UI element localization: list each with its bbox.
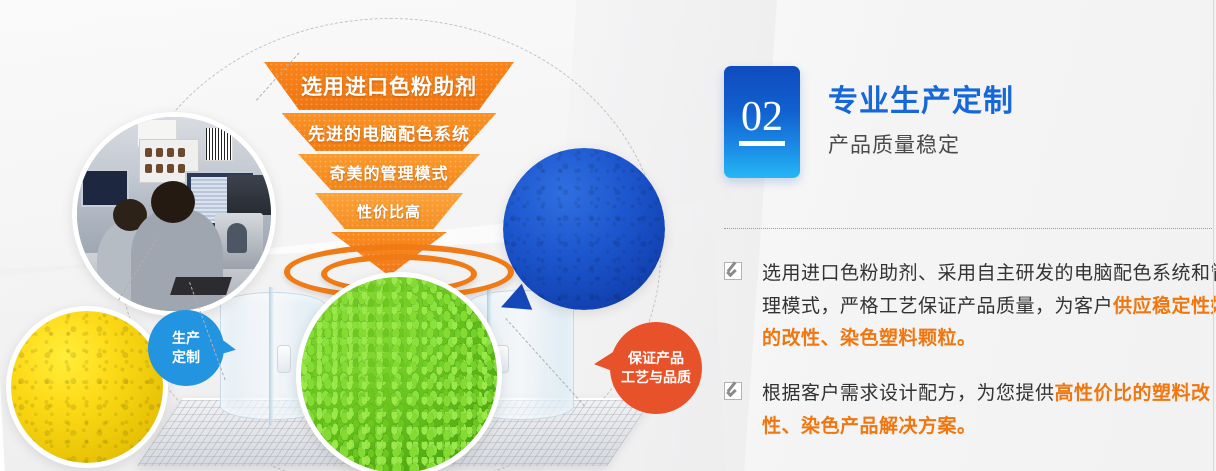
photo-worker-right bbox=[131, 209, 223, 316]
green-plastic-pellets bbox=[296, 272, 502, 471]
section-number-badge: 02 bbox=[724, 66, 800, 178]
header-divider bbox=[724, 228, 1214, 229]
funnel-stage-2: 先进的电脑配色系统 bbox=[282, 113, 497, 151]
section-header: 02 专业生产定制 产品质量稳定 bbox=[724, 66, 1014, 178]
powder-grain-texture bbox=[11, 311, 163, 463]
pellets-fill bbox=[301, 277, 497, 471]
funnel-stage-2-label: 先进的电脑配色系统 bbox=[308, 120, 470, 145]
funnel-stage-4: 性价比高 bbox=[315, 193, 463, 229]
photo-keyboard bbox=[170, 277, 232, 295]
promo-banner: 选用进口色粉助剂 先进的电脑配色系统 奇美的管理模式 性价比高 生产 定制 保证… bbox=[0, 0, 1216, 471]
feature-bullet-1: 选用进口色粉助剂、采用自主研发的电脑配色系统和管理模式，严格工艺保证产品质量，为… bbox=[724, 258, 1216, 356]
right-edge-border bbox=[1213, 0, 1214, 471]
badge-quality-guarantee: 保证产品 工艺与品质 bbox=[610, 322, 702, 414]
badge-quality-line1: 保证产品 bbox=[628, 349, 684, 368]
content-panel: 02 专业生产定制 产品质量稳定 选用进口色粉助剂、采用自主研发的电脑配色系统和… bbox=[724, 0, 1216, 471]
photo-barcode bbox=[205, 127, 233, 161]
lab-technicians-photo bbox=[72, 112, 276, 316]
feature-bullet-2-plain: 根据客户需求设计配方，为您提供 bbox=[762, 383, 1055, 404]
badge-production-line1: 生产 bbox=[172, 329, 200, 348]
funnel-stage-3-label: 奇美的管理模式 bbox=[329, 160, 448, 184]
powder-grain-texture bbox=[503, 148, 665, 310]
funnel-stage-1: 选用进口色粉助剂 bbox=[264, 62, 514, 110]
badge-quality-line2: 工艺与品质 bbox=[621, 368, 691, 387]
section-title: 专业生产定制 bbox=[828, 85, 1014, 120]
section-header-text: 专业生产定制 产品质量稳定 bbox=[828, 85, 1014, 160]
section-subtitle: 产品质量稳定 bbox=[828, 129, 1014, 159]
feature-bullet-2-text: 根据客户需求设计配方，为您提供高性价比的塑料改性、染色产品解决方案。 bbox=[762, 378, 1216, 443]
feature-bullet-1-text: 选用进口色粉助剂、采用自主研发的电脑配色系统和管理模式，严格工艺保证产品质量，为… bbox=[762, 258, 1216, 356]
yellow-pigment-powder bbox=[6, 306, 168, 468]
cylinder-knob bbox=[277, 345, 291, 373]
process-funnel: 选用进口色粉助剂 先进的电脑配色系统 奇美的管理模式 性价比高 bbox=[264, 62, 514, 274]
feature-bullet-2: 根据客户需求设计配方，为您提供高性价比的塑料改性、染色产品解决方案。 bbox=[724, 378, 1216, 443]
funnel-stage-1-label: 选用进口色粉助剂 bbox=[301, 71, 477, 101]
funnel-stage-3: 奇美的管理模式 bbox=[298, 154, 480, 190]
badge-production-line2: 定制 bbox=[172, 348, 200, 367]
checkbox-checked-icon bbox=[724, 382, 742, 400]
funnel-stage-4-label: 性价比高 bbox=[357, 201, 421, 222]
blue-pigment-powder bbox=[503, 148, 665, 310]
checkbox-checked-icon bbox=[724, 262, 742, 280]
section-number: 02 bbox=[741, 96, 783, 148]
